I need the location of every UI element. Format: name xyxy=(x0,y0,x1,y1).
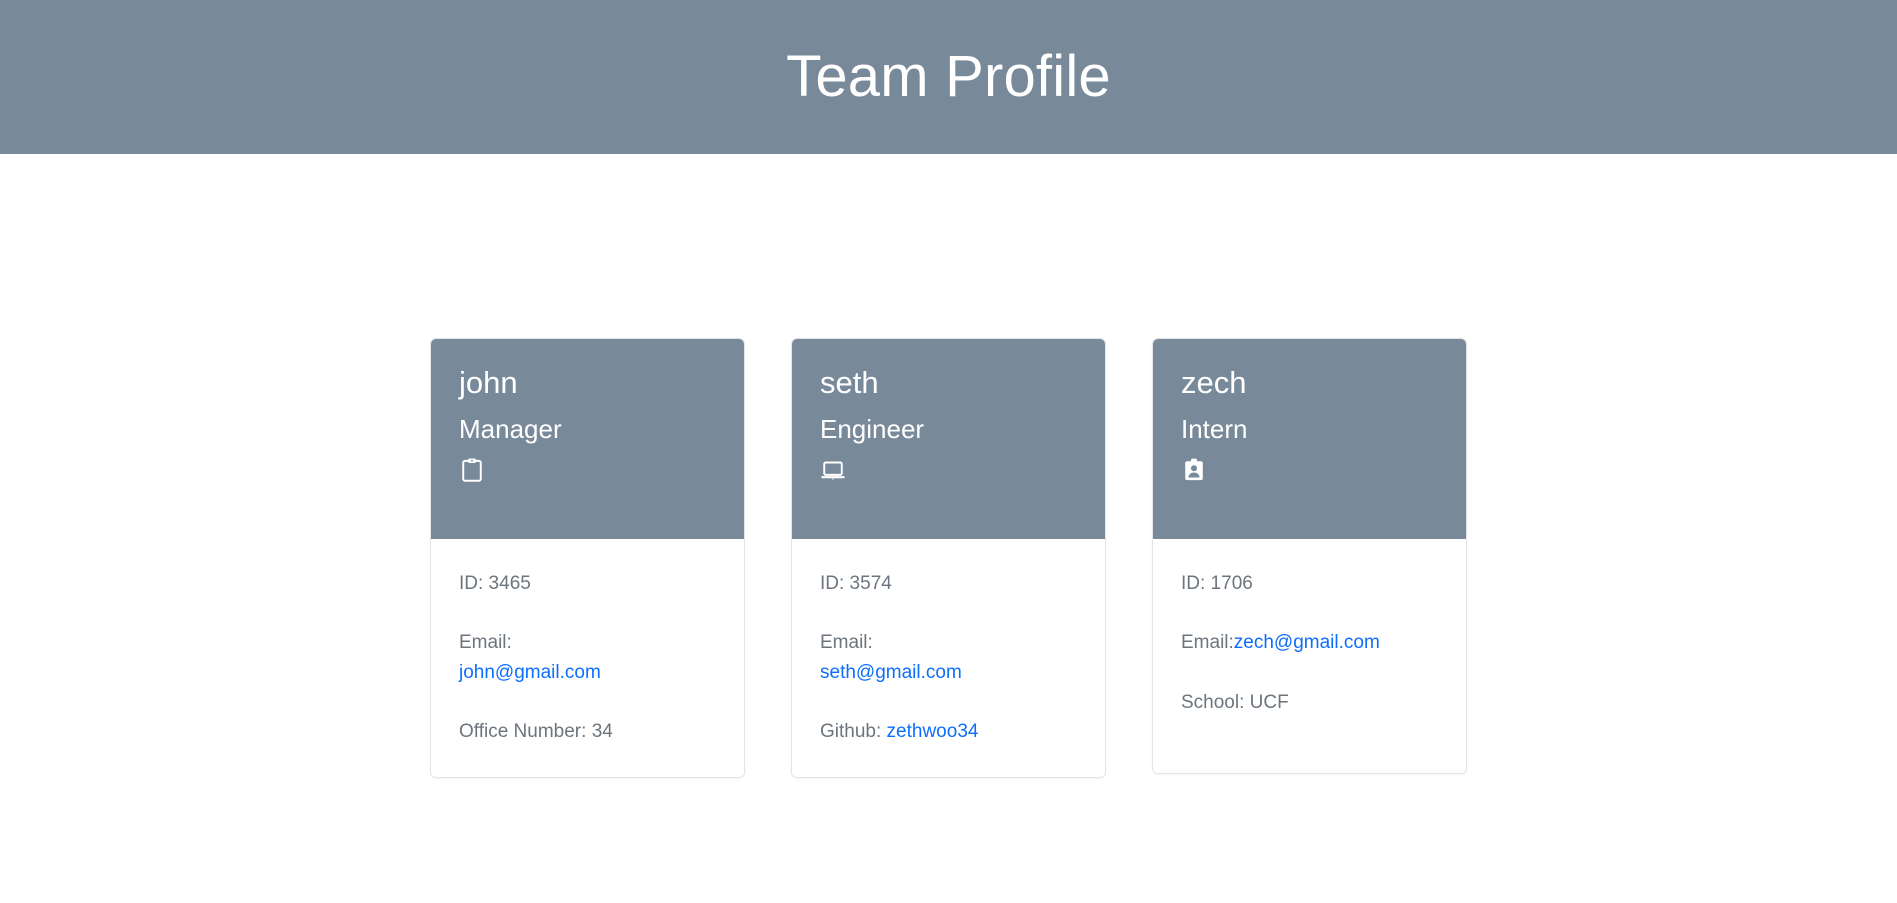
profile-extra-text: Office Number: 34 xyxy=(459,721,613,742)
profile-extra-row: Office Number: 34 xyxy=(459,717,716,746)
profile-email-row: Email: john@gmail.com xyxy=(459,628,716,687)
profile-role: Manager xyxy=(459,415,716,445)
profile-email-link[interactable]: seth@gmail.com xyxy=(820,662,962,683)
profile-email-label: Email: xyxy=(820,632,873,653)
profile-extra-row: Github: zethwoo34 xyxy=(820,717,1077,746)
page-title: Team Profile xyxy=(786,48,1111,106)
profile-card[interactable]: zech Intern ID: 1706 Email:zech@gmail.co… xyxy=(1152,338,1467,774)
profile-email-link[interactable]: john@gmail.com xyxy=(459,662,601,683)
profile-card-header: seth Engineer xyxy=(792,339,1105,539)
profile-email-row: Email: seth@gmail.com xyxy=(820,628,1077,687)
profile-extra-row: School: UCF xyxy=(1181,688,1438,717)
profile-card-body: ID: 3574 Email: seth@gmail.com Github: z… xyxy=(792,539,1105,777)
profile-email-label: Email: xyxy=(459,632,512,653)
profile-card-row: john Manager ID: 3465 Email: john@gmail.… xyxy=(430,338,1467,778)
clipboard-icon xyxy=(459,457,485,483)
page-root: Team Profile john Manager ID: 3465 E xyxy=(0,0,1897,903)
profile-card-body: ID: 1706 Email:zech@gmail.com School: UC… xyxy=(1153,539,1466,773)
profile-name: seth xyxy=(820,365,1077,401)
profile-card-header: john Manager xyxy=(431,339,744,539)
profile-name: zech xyxy=(1181,365,1438,401)
page-header-banner: Team Profile xyxy=(0,0,1897,154)
profile-github-label: Github: xyxy=(820,721,887,742)
profile-card[interactable]: seth Engineer ID: 3574 Email: seth@gmail… xyxy=(791,338,1106,778)
id-badge-icon xyxy=(1181,457,1207,483)
profile-card-body: ID: 3465 Email: john@gmail.com Office Nu… xyxy=(431,539,744,777)
profile-school-text: School: UCF xyxy=(1181,692,1289,713)
profile-role: Engineer xyxy=(820,415,1077,445)
profile-email-label: Email: xyxy=(1181,632,1234,653)
profile-role: Intern xyxy=(1181,415,1438,445)
profile-id: ID: 3574 xyxy=(820,569,1077,598)
profile-email-link[interactable]: zech@gmail.com xyxy=(1234,632,1380,653)
profile-id: ID: 1706 xyxy=(1181,569,1438,598)
profile-name: john xyxy=(459,365,716,401)
profile-card[interactable]: john Manager ID: 3465 Email: john@gmail.… xyxy=(430,338,745,778)
profile-email-row: Email:zech@gmail.com xyxy=(1181,628,1438,657)
profile-card-header: zech Intern xyxy=(1153,339,1466,539)
profile-github-link[interactable]: zethwoo34 xyxy=(887,721,979,742)
profile-id: ID: 3465 xyxy=(459,569,716,598)
laptop-icon xyxy=(820,457,846,483)
